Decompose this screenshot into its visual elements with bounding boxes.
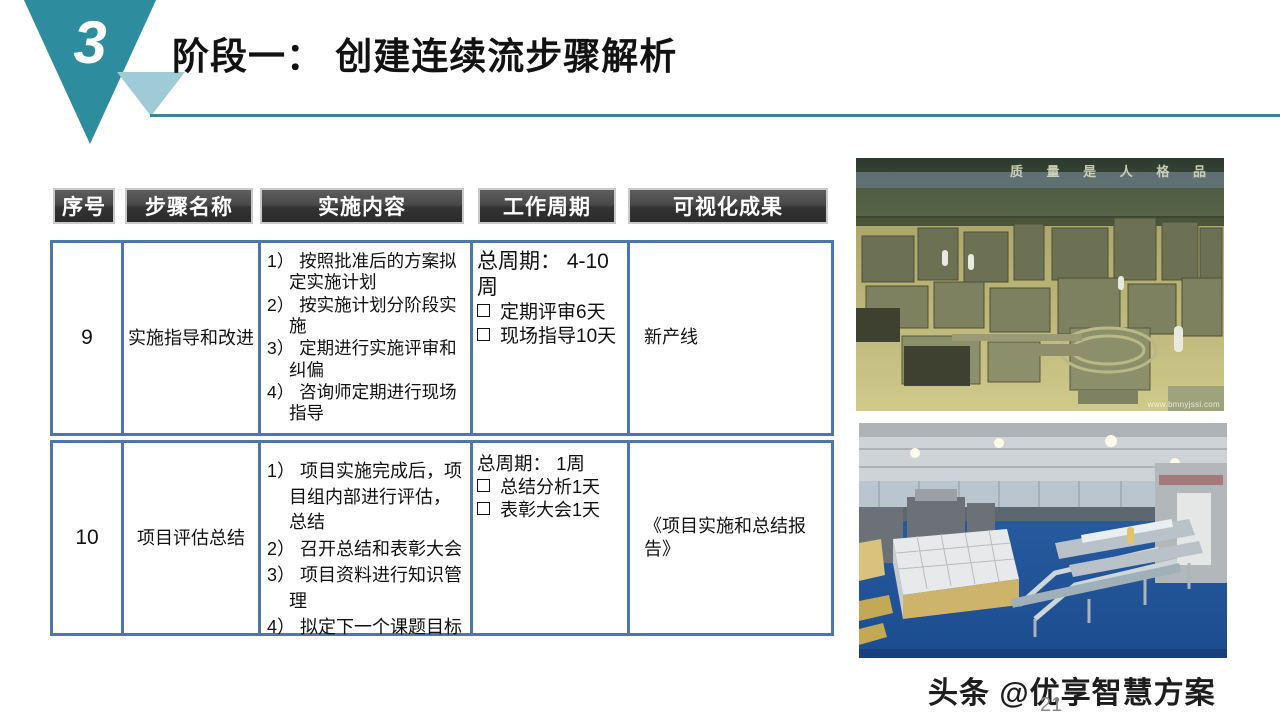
cycle-item-label: 定期评审6天: [500, 302, 606, 323]
list-item: 2） 召开总结和表彰大会: [267, 537, 466, 563]
table-header-visual: 可视化成果: [628, 188, 828, 224]
content-list: 1） 按照批准后的方案拟定实施计划 2） 按实施计划分阶段实施 3） 定期进行实…: [261, 243, 470, 426]
list-item: 定期评审6天: [477, 301, 625, 324]
row-cycle-cell: 总周期： 1周 总结分析1天 表彰大会1天: [470, 443, 627, 633]
cycle-total-label: 总周期： 4-10周: [477, 249, 625, 300]
list-item: 表彰大会1天: [477, 500, 600, 522]
row-step-name-label: 实施指导和改进: [124, 327, 258, 350]
cycle-total-label: 总周期： 1周: [477, 453, 600, 476]
list-item: 1） 项目实施完成后，项目组内部进行评估，总结: [267, 459, 466, 536]
table-row: 10 项目评估总结 1） 项目实施完成后，项目组内部进行评估，总结 2） 召开总…: [50, 440, 834, 636]
list-item: 现场指导10天: [477, 325, 625, 348]
table-header-step: 步骤名称: [125, 188, 253, 224]
row-visual-label: 《项目实施和总结报告》: [630, 515, 831, 562]
photo-overlay-text: 质 量 是 人 格 品: [856, 161, 1224, 180]
cycle-item-label: 现场指导10天: [500, 326, 616, 347]
checkbox-icon: [477, 502, 490, 515]
table-row: 9 实施指导和改进 1） 按照批准后的方案拟定实施计划 2） 按实施计划分阶段实…: [50, 240, 834, 436]
list-item: 4） 拟定下一个课题目标: [267, 615, 466, 641]
row-no-label: 9: [81, 326, 93, 350]
slide-root: 3 阶段一： 创建连续流步骤解析 序号 步骤名称 实施内容 工作周期 可视化成果…: [0, 0, 1280, 720]
cycle-item-label: 表彰大会1天: [500, 500, 600, 520]
cycle-list: 总结分析1天 表彰大会1天: [477, 477, 600, 522]
cycle-block: 总周期： 4-10周 定期评审6天 现场指导10天: [473, 243, 627, 350]
list-item: 2） 按实施计划分阶段实施: [267, 295, 466, 338]
row-step-name-label: 项目评估总结: [133, 527, 249, 550]
table-header-cycle: 工作周期: [478, 188, 616, 224]
list-item: 4） 咨询师定期进行现场指导: [267, 382, 466, 425]
cycle-item-label: 总结分析1天: [500, 477, 600, 497]
content-list: 1） 项目实施完成后，项目组内部进行评估，总结 2） 召开总结和表彰大会 3） …: [261, 443, 470, 642]
list-item: 3） 项目资料进行知识管理: [267, 563, 466, 614]
row-no-cell: 9: [53, 243, 121, 433]
row-cycle-cell: 总周期： 4-10周 定期评审6天 现场指导10天: [470, 243, 627, 433]
row-visual-cell: 《项目实施和总结报告》: [627, 443, 831, 633]
header-divider: [150, 114, 1280, 117]
row-visual-label: 新产线: [630, 326, 698, 349]
page-number: 21: [1040, 694, 1062, 717]
row-content-cell: 1） 按照批准后的方案拟定实施计划 2） 按实施计划分阶段实施 3） 定期进行实…: [258, 243, 470, 433]
packaging-line-image: [859, 423, 1227, 658]
list-item: 总结分析1天: [477, 477, 600, 499]
table-header-no: 序号: [53, 188, 115, 224]
watermark-label: 头条 @优享智慧方案: [928, 668, 1216, 712]
checkbox-icon: [477, 479, 490, 492]
checkbox-icon: [477, 328, 490, 341]
row-step-name-cell: 项目评估总结: [121, 443, 258, 633]
row-no-cell: 10: [53, 443, 121, 633]
page-title: 阶段一： 创建连续流步骤解析: [172, 26, 677, 80]
list-item: 3） 定期进行实施评审和纠偏: [267, 338, 466, 381]
step-number-label: 3: [23, 8, 157, 78]
list-item: 1） 按照批准后的方案拟定实施计划: [267, 251, 466, 294]
photo-packaging-conveyor-line: [859, 423, 1227, 658]
photo-factory-production-hall: 质 量 是 人 格 品 www.bmnyjssi.com: [856, 158, 1224, 411]
checkbox-icon: [477, 304, 490, 317]
table-header-content: 实施内容: [260, 188, 464, 224]
cycle-block: 总周期： 1周 总结分析1天 表彰大会1天: [473, 443, 602, 522]
photo-credit: www.bmnyjssi.com: [1148, 400, 1220, 409]
cycle-list: 定期评审6天 现场指导10天: [477, 301, 625, 348]
row-visual-cell: 新产线: [627, 243, 831, 433]
row-content-cell: 1） 项目实施完成后，项目组内部进行评估，总结 2） 召开总结和表彰大会 3） …: [258, 443, 470, 633]
factory-hall-image: [856, 158, 1224, 411]
row-no-label: 10: [75, 526, 98, 550]
row-step-name-cell: 实施指导和改进: [121, 243, 258, 433]
